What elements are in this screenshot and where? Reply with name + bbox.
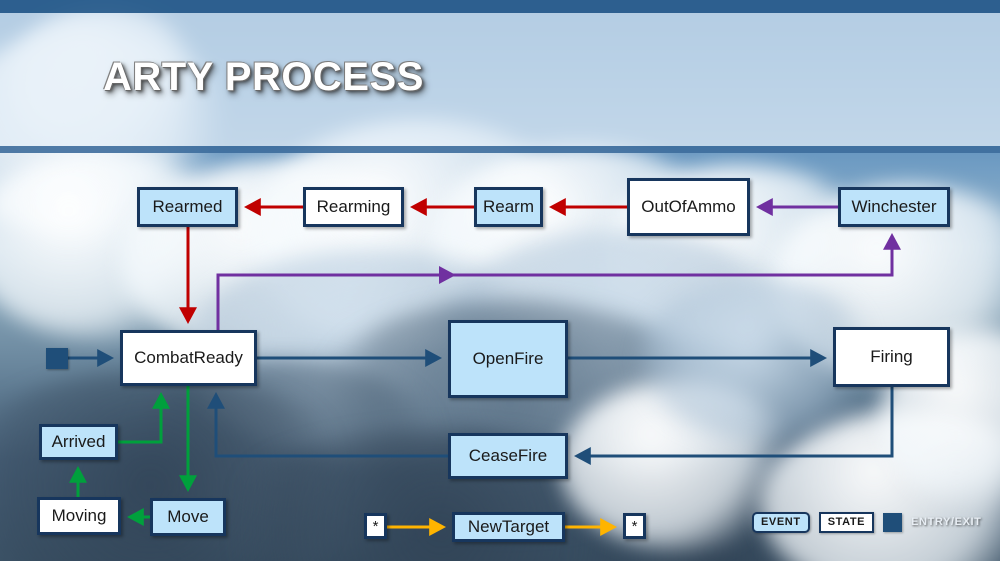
node-move[interactable]: Move bbox=[150, 498, 226, 536]
node-rearmed[interactable]: Rearmed bbox=[137, 187, 238, 227]
node-newtarget[interactable]: NewTarget bbox=[452, 512, 565, 542]
slide: ARTY PROCESS bbox=[0, 0, 1000, 561]
node-label: Firing bbox=[870, 347, 913, 367]
node-label: Winchester bbox=[851, 197, 936, 217]
node-label: Rearm bbox=[483, 197, 534, 217]
legend-entry-exit-swatch bbox=[883, 513, 902, 532]
node-star-entry[interactable]: * bbox=[364, 513, 387, 539]
legend-event-swatch: EVENT bbox=[752, 512, 810, 533]
node-rearming[interactable]: Rearming bbox=[303, 187, 404, 227]
node-winchester[interactable]: Winchester bbox=[838, 187, 950, 227]
legend-state-label: STATE bbox=[828, 516, 865, 528]
node-star-exit[interactable]: * bbox=[623, 513, 646, 539]
legend-entry-exit-label: ENTRY/EXIT bbox=[911, 516, 981, 528]
node-label: OutOfAmmo bbox=[641, 197, 735, 217]
node-rearm[interactable]: Rearm bbox=[474, 187, 543, 227]
node-label: * bbox=[632, 518, 638, 535]
node-label: Moving bbox=[52, 506, 107, 526]
node-firing[interactable]: Firing bbox=[833, 327, 950, 387]
entry-exit-marker[interactable] bbox=[46, 348, 68, 369]
node-label: CombatReady bbox=[134, 348, 243, 368]
node-label: Rearmed bbox=[153, 197, 223, 217]
edge-ceasefire-to-combatready bbox=[216, 395, 448, 456]
node-label: Move bbox=[167, 507, 209, 527]
edge-firing-to-ceasefire bbox=[577, 387, 892, 456]
legend-event-label: EVENT bbox=[761, 516, 801, 528]
legend-state-swatch: STATE bbox=[819, 512, 874, 533]
node-combatready[interactable]: CombatReady bbox=[120, 330, 257, 386]
edge-combatready-to-winchester bbox=[218, 236, 892, 330]
node-label: CeaseFire bbox=[469, 446, 547, 466]
node-arrived[interactable]: Arrived bbox=[39, 424, 118, 460]
node-outofammo[interactable]: OutOfAmmo bbox=[627, 178, 750, 236]
node-label: * bbox=[373, 518, 379, 535]
node-ceasefire[interactable]: CeaseFire bbox=[448, 433, 568, 479]
node-label: NewTarget bbox=[468, 517, 549, 537]
edge-arrived-to-combatready bbox=[118, 395, 161, 442]
legend: EVENT STATE ENTRY/EXIT bbox=[752, 511, 982, 533]
node-moving[interactable]: Moving bbox=[37, 497, 121, 535]
node-label: Rearming bbox=[317, 197, 391, 217]
node-label: Arrived bbox=[52, 432, 106, 452]
node-label: OpenFire bbox=[473, 349, 544, 369]
node-openfire[interactable]: OpenFire bbox=[448, 320, 568, 398]
